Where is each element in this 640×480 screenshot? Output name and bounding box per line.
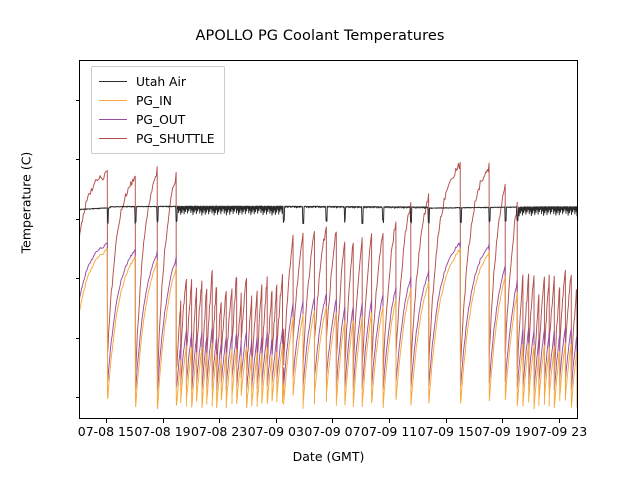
x-tick-label: 07-08 23 [191,424,247,439]
legend-swatch [99,119,127,120]
legend-swatch [99,81,127,82]
x-tick-mark [389,419,390,423]
x-tick-label: 07-08 15 [78,424,134,439]
series-line-utah-air [80,206,577,224]
x-tick-label: 07-09 19 [474,424,530,439]
legend-label: Utah Air [136,75,186,89]
legend-swatch [99,100,127,101]
legend-entry: PG_OUT [99,110,215,129]
legend-label: PG_SHUTTLE [136,132,215,146]
chart-title: APOLLO PG Coolant Temperatures [0,28,640,44]
x-tick-mark [446,419,447,423]
chart-legend: Utah AirPG_INPG_OUTPG_SHUTTLE [91,66,225,154]
series-line-pg-in [80,249,577,409]
x-tick-mark [502,419,503,423]
x-tick-label: 07-09 07 [304,424,360,439]
x-tick-mark [332,419,333,423]
legend-label: PG_IN [136,94,172,108]
x-tick-label: 07-09 11 [361,424,417,439]
x-tick-label: 07-09 23 [531,424,587,439]
legend-entry: Utah Air [99,72,215,91]
legend-swatch [99,138,127,139]
x-tick-mark [219,419,220,423]
x-axis-label: Date (GMT) [79,449,578,464]
chart-figure: APOLLO PG Coolant Temperatures Temperatu… [0,0,640,480]
y-axis-label: Temperature (C) [19,53,34,353]
x-tick-mark [106,419,107,423]
x-tick-label: 07-09 15 [418,424,474,439]
x-tick-mark [559,419,560,423]
x-tick-label: 07-09 03 [248,424,304,439]
legend-label: PG_OUT [136,113,185,127]
x-tick-mark [163,419,164,423]
legend-entry: PG_IN [99,91,215,110]
x-tick-mark [276,419,277,423]
legend-entry: PG_SHUTTLE [99,129,215,148]
x-tick-label: 07-08 19 [134,424,190,439]
